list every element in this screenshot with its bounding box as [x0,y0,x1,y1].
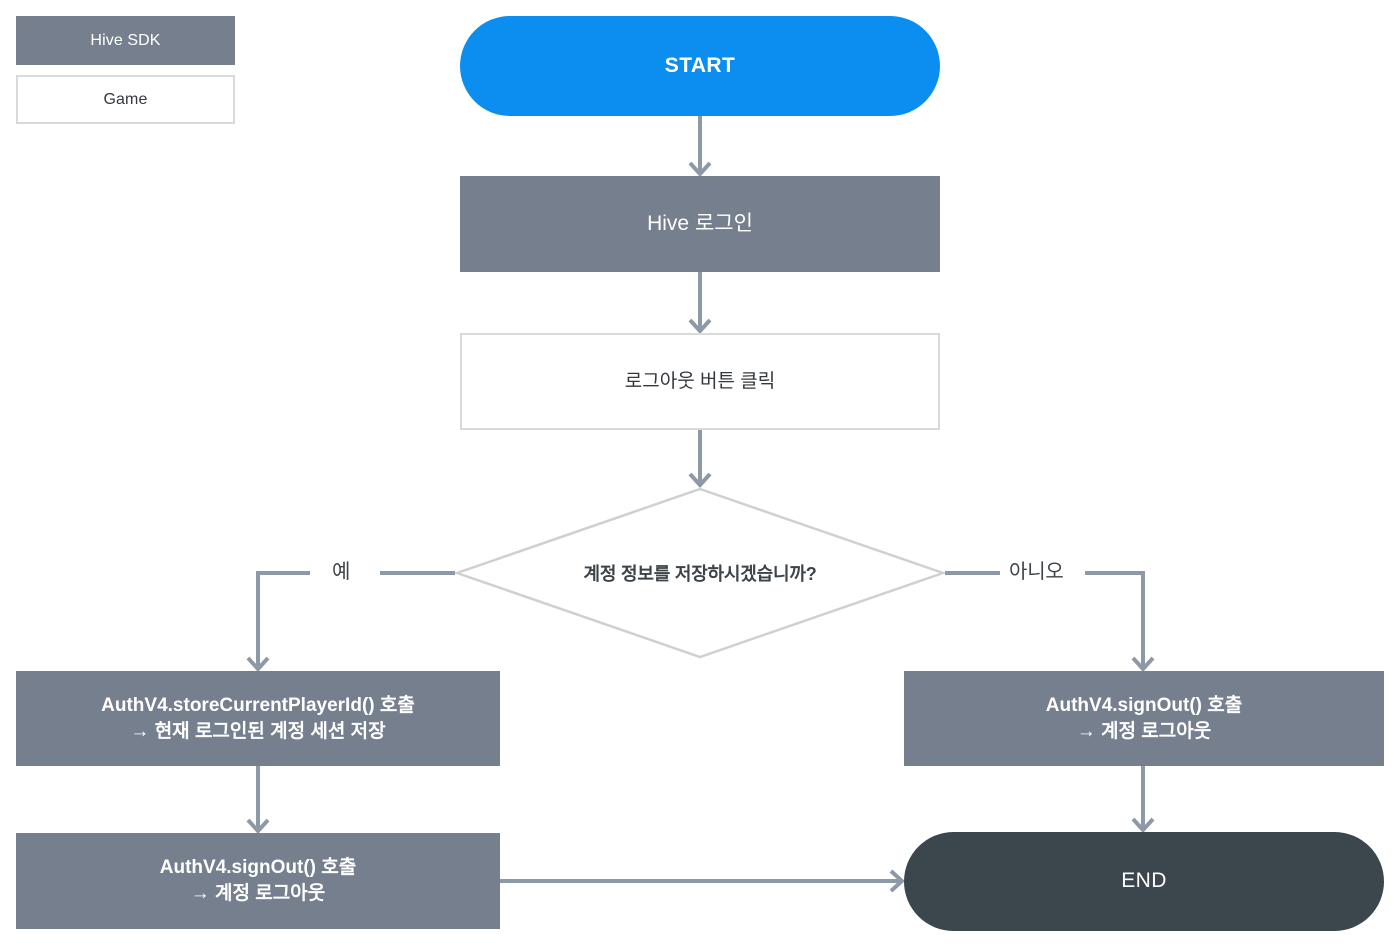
node-start[interactable]: START [460,16,940,116]
legend-item-label: Game [104,91,148,109]
node-end[interactable]: END [904,832,1384,931]
node-end-label: END [1121,867,1167,895]
edge-label-no: 아니오 [1000,562,1073,582]
node-logout-button-click[interactable]: 로그아웃 버튼 클릭 [460,333,940,430]
node-sign-out-left-line1: AuthV4.signOut() 호출 [160,855,356,881]
node-sign-out-left-line2: → 계정 로그아웃 [191,881,325,907]
node-store-current-player-id[interactable]: AuthV4.storeCurrentPlayerId() 호출 → 현재 로그… [16,671,500,766]
node-sign-out-right-line2: → 계정 로그아웃 [1077,719,1211,745]
edge-label-yes: 예 [323,562,359,582]
node-decision-label: 계정 정보를 저장하시겠습니까? [455,487,945,659]
node-store-current-player-id-line2: → 현재 로그인된 계정 세션 저장 [130,719,385,745]
node-decision-save-account-info[interactable]: 계정 정보를 저장하시겠습니까? [455,487,945,659]
node-sign-out-right-line1: AuthV4.signOut() 호출 [1046,693,1242,719]
legend-item-hive-sdk: Hive SDK [16,16,235,65]
node-sign-out-right[interactable]: AuthV4.signOut() 호출 → 계정 로그아웃 [904,671,1384,766]
flowchart-canvas: Hive SDK Game START Hive 로그인 로그아웃 버튼 클릭 … [0,0,1400,950]
node-store-current-player-id-line1: AuthV4.storeCurrentPlayerId() 호출 [101,693,415,719]
node-start-label: START [665,52,735,80]
legend-item-game: Game [16,75,235,124]
legend-item-label: Hive SDK [90,32,160,50]
node-hive-login[interactable]: Hive 로그인 [460,176,940,272]
node-logout-button-click-label: 로그아웃 버튼 클릭 [625,369,775,395]
node-sign-out-left[interactable]: AuthV4.signOut() 호출 → 계정 로그아웃 [16,833,500,929]
connector-layer [0,0,1400,950]
node-hive-login-label: Hive 로그인 [647,210,753,238]
